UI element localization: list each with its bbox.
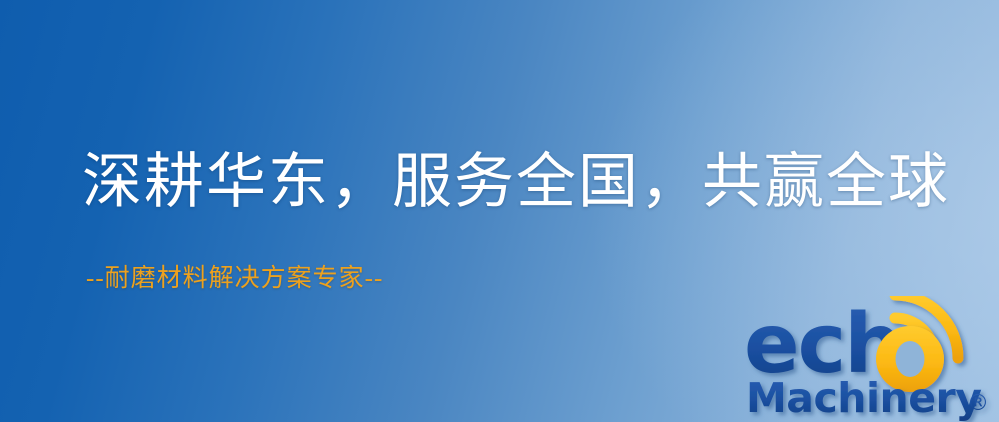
logo-o-counter bbox=[896, 341, 925, 377]
promo-banner: 深耕华东，服务全国，共赢全球 --耐磨材料解决方案专家-- bbox=[0, 0, 999, 422]
logo-graphic: ech Machinery ® bbox=[742, 296, 999, 422]
logo-trademark-symbol: ® bbox=[967, 391, 989, 416]
logo-machinery-glyphs: Machinery bbox=[746, 374, 981, 422]
banner-subtitle: --耐磨材料解决方案专家-- bbox=[86, 266, 383, 291]
logo-text-machinery: Machinery ® bbox=[746, 374, 989, 422]
banner-headline: 深耕华东，服务全国，共赢全球 bbox=[82, 152, 950, 212]
echo-machinery-logo: ech Machinery ® bbox=[742, 296, 999, 422]
